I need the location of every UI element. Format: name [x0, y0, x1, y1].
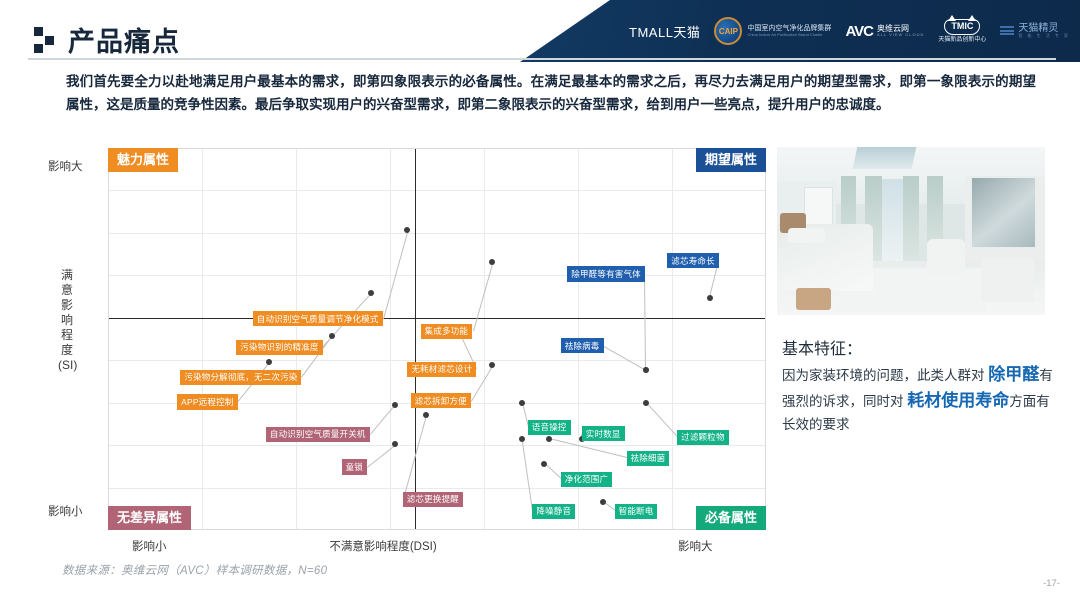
feature-line-1: 因为家装环境的问题，此类人群对	[782, 368, 985, 383]
feature-heading: 基本特征：	[782, 335, 1058, 359]
tmall-logo-text: TMALL天猫	[629, 22, 700, 41]
data-point-label: APP远程控制	[177, 394, 237, 409]
y-axis-title: 满意影响程度(SI)	[58, 268, 76, 373]
plot-border	[108, 148, 766, 530]
source-note: 数据来源：奥维云网（AVC）样本调研数据，N=60	[62, 562, 327, 578]
data-point	[519, 400, 525, 406]
page-number: -17-	[1043, 578, 1060, 589]
data-point-label: 除甲醛等有害气体	[567, 266, 645, 281]
data-point	[329, 333, 335, 339]
quadrant-badge-indifferent: 无差异属性	[108, 506, 191, 530]
quadrant-badge-must-be: 必备属性	[696, 506, 766, 530]
tmall-genie-logo: 天猫精灵 智 能 生 活 专 家	[1000, 23, 1070, 38]
plot-area: 自动识别空气质量调节净化模式污染物识别的精准度污染物分解彻底，无二次污染APP远…	[108, 148, 766, 530]
gridline-horizontal	[108, 488, 766, 489]
gridline-vertical	[672, 148, 673, 530]
data-point-label: 净化范围广	[561, 472, 613, 487]
partner-logo-row: TMALL天猫 CAIP 中国室内空气净化品牌集群 China Indoor A…	[629, 10, 1070, 52]
data-point-label: 无耗材滤芯设计	[407, 362, 476, 377]
data-point-label: 智能断电	[615, 504, 658, 519]
gridline-horizontal	[108, 233, 766, 234]
gridline-horizontal	[108, 445, 766, 446]
x-axis-right-label: 影响大	[678, 538, 713, 554]
data-point-label: 自动识别空气质量开关机	[266, 427, 370, 442]
data-point	[707, 295, 713, 301]
data-point	[643, 367, 649, 373]
leader-line	[522, 439, 534, 511]
feature-keyword-2: 耗材使用寿命	[907, 391, 1009, 410]
data-point-label: 祛除细菌	[627, 451, 670, 466]
data-point	[423, 412, 429, 418]
genie-bars-icon	[1000, 26, 1014, 35]
data-point-label: 降噪静音	[532, 504, 575, 519]
page-title-group: 产品痛点	[34, 20, 180, 59]
leader-line	[644, 274, 646, 370]
leader-line	[370, 405, 396, 435]
tmic-logo: TMIC 天猫新品创新中心	[938, 19, 986, 43]
data-point-label: 滤芯更换提醒	[403, 492, 463, 507]
title-divider	[28, 58, 1056, 60]
data-point	[541, 461, 547, 467]
caip-logo-en: China Indoor Air Purification Brand Clus…	[747, 33, 831, 37]
avc-logo-mark: AVC	[845, 23, 873, 40]
caip-ring-icon: CAIP	[714, 17, 742, 45]
avc-logo-en: ALL VIEW CLOUD	[877, 33, 924, 37]
data-point-label: 过滤颗粒物	[677, 430, 729, 445]
room-illustration	[777, 147, 1045, 315]
page-title: 产品痛点	[68, 20, 180, 59]
leader-line	[544, 463, 562, 480]
x-axis-left-label: 影响小	[132, 538, 167, 554]
data-point	[266, 359, 272, 365]
y-axis-line	[415, 148, 416, 530]
tmic-logo-cn: 天猫新品创新中心	[938, 37, 986, 44]
y-axis-bottom-label: 影响小	[48, 503, 83, 519]
data-point	[489, 259, 495, 265]
data-point	[643, 400, 649, 406]
data-point-label: 实时数显	[582, 426, 625, 441]
leader-line	[603, 346, 646, 371]
data-point-label: 滤芯拆卸方便	[411, 393, 471, 408]
data-point-label: 祛除病毒	[561, 338, 604, 353]
avc-logo: AVC 奥维云网 ALL VIEW CLOUD	[845, 23, 924, 40]
tmall-logo: TMALL天猫	[629, 22, 700, 41]
leader-line	[383, 230, 409, 319]
data-point	[392, 402, 398, 408]
tmall-genie-sub: 智 能 生 活 专 家	[1018, 34, 1070, 38]
data-point	[600, 499, 606, 505]
data-point	[392, 441, 398, 447]
gridline-horizontal	[108, 190, 766, 191]
data-point	[489, 362, 495, 368]
y-axis-top-label: 影响大	[48, 158, 83, 174]
data-point-label: 自动识别空气质量调节净化模式	[253, 311, 383, 326]
data-point-label: 滤芯寿命长	[667, 253, 719, 268]
data-point-label: 集成多功能	[421, 324, 473, 339]
leader-line	[473, 262, 494, 332]
leader-line	[646, 403, 678, 438]
data-point	[404, 227, 410, 233]
kano-scatter-chart: 自动识别空气质量调节净化模式污染物识别的精准度污染物分解彻底，无二次污染APP远…	[108, 148, 766, 530]
caip-logo: CAIP 中国室内空气净化品牌集群 China Indoor Air Purif…	[714, 17, 831, 45]
leader-line	[367, 444, 396, 467]
tmic-logo-mark: TMIC	[944, 19, 980, 35]
data-point-label: 污染物识别的精准度	[236, 340, 322, 355]
gridline-vertical	[202, 148, 203, 530]
feature-body: 因为家装环境的问题，此类人群对 除甲醛有强烈的诉求，同时对 耗材使用寿命方面有长…	[782, 362, 1058, 436]
title-decoration-icon	[34, 27, 56, 53]
data-point-label: 污染物分解彻底，无二次污染	[180, 370, 301, 385]
intro-paragraph: 我们首先要全力以赴地满足用户最基本的需求，即第四象限表示的必备属性。在满足最基本…	[66, 70, 1036, 116]
data-point-label: 童锁	[342, 459, 367, 474]
quadrant-badge-expected: 期望属性	[696, 148, 766, 172]
x-axis-line	[108, 318, 766, 319]
quadrant-badge-charm: 魅力属性	[108, 148, 178, 172]
feature-keyword-1: 除甲醛	[988, 365, 1039, 384]
data-point-label: 语音操控	[528, 420, 571, 435]
gridline-horizontal	[108, 275, 766, 276]
gridline-vertical	[484, 148, 485, 530]
feature-summary: 基本特征： 因为家装环境的问题，此类人群对 除甲醛有强烈的诉求，同时对 耗材使用…	[782, 335, 1058, 436]
gridline-vertical	[390, 148, 391, 530]
room-photo	[777, 147, 1045, 315]
data-point	[519, 436, 525, 442]
data-point	[368, 290, 374, 296]
data-point	[546, 436, 552, 442]
